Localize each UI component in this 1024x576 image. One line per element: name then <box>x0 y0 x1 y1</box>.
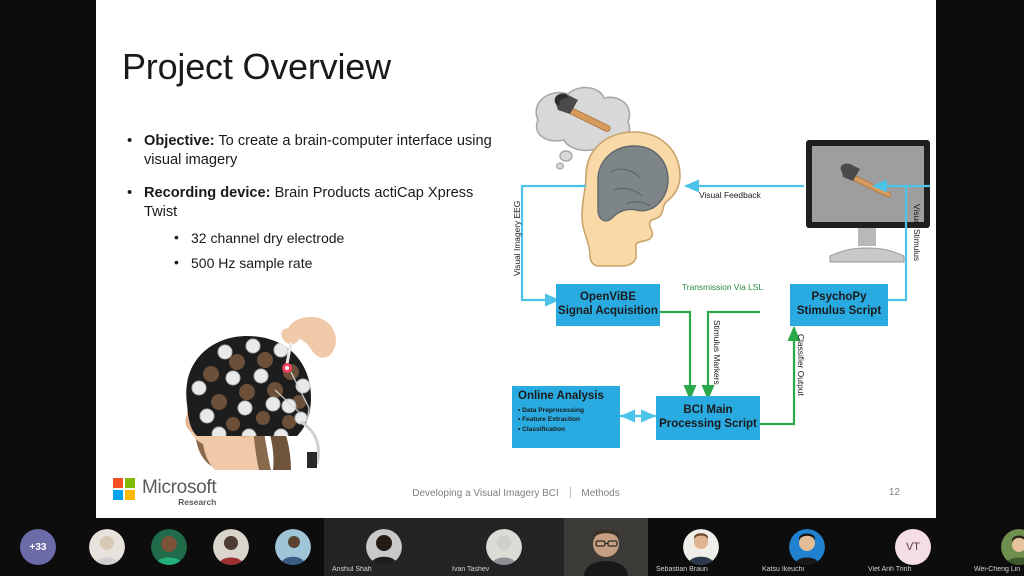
diagram-box-psychopy[interactable]: PsychoPy Stimulus Script <box>790 284 888 326</box>
online-analysis-item: Data Preprocessing <box>518 406 584 416</box>
participant-name: Wei-Cheng Lin <box>974 566 1020 573</box>
footer-divider <box>570 487 571 498</box>
box-bci-line2: Processing Script <box>659 418 757 432</box>
bullet-sub-list: 32 channel dry electrode 500 Hz sample r… <box>144 229 494 272</box>
online-analysis-item: Classification <box>518 425 584 435</box>
avatar <box>213 529 249 565</box>
participant-name: Viet Anh Trinh <box>868 566 911 573</box>
label-visual-feedback: Visual Feedback <box>699 190 761 200</box>
arrow-visual-imagery-eeg <box>522 186 586 300</box>
label-visual-imagery-eeg: Visual Imagery EEG <box>512 201 522 276</box>
bullet-objective-label: Objective: <box>144 133 215 149</box>
overflow-count-badge: +33 <box>20 529 56 565</box>
participant-tile[interactable]: Anshul Shah <box>324 518 444 576</box>
slide-page-number: 12 <box>889 487 900 498</box>
box-bci-line1: BCI Main <box>683 404 732 418</box>
participant-tile[interactable]: Ivan Tashev <box>444 518 564 576</box>
label-stimulus-markers: Stimulus Markers <box>712 320 722 385</box>
box-openvibe-line2: Signal Acquisition <box>558 305 658 319</box>
footer-deck-title: Developing a Visual Imagery BCI <box>412 488 559 499</box>
avatar <box>151 529 187 565</box>
page-title: Project Overview <box>122 46 391 88</box>
box-openvibe-line1: OpenViBE <box>580 291 636 305</box>
bullet-list: Objective: To create a brain-computer in… <box>124 132 494 285</box>
label-visual-stimulus: Visual Stimulus <box>912 204 922 261</box>
avatar <box>366 529 402 565</box>
participant-tile[interactable]: Katsu Ikeuchi <box>754 518 860 576</box>
arrow-transmission-lsl <box>656 312 690 398</box>
participant-tile[interactable]: Wei-Cheng Lin <box>966 518 1024 576</box>
bullet-sub-item: 32 channel dry electrode <box>174 229 494 247</box>
footer-section: Methods <box>581 488 619 499</box>
bullet-recording-label: Recording device: <box>144 185 271 201</box>
avatar <box>1001 529 1024 565</box>
participant-name: Katsu Ikeuchi <box>762 566 804 573</box>
overflow-tile[interactable]: +33 <box>0 518 76 576</box>
participant-tile[interactable] <box>138 518 200 576</box>
arrow-classifier-output <box>760 328 794 424</box>
diagram-box-openvibe[interactable]: OpenViBE Signal Acquisition <box>556 284 660 326</box>
participant-name: Anshul Shah <box>332 566 372 573</box>
bullet-recording-device: Recording device: Brain Products actiCap… <box>124 184 494 273</box>
avatar <box>683 529 719 565</box>
participant-strip[interactable]: +33 <box>0 518 1024 576</box>
eeg-cap-photo <box>141 312 371 472</box>
online-analysis-items: Data Preprocessing Feature Extraction Cl… <box>518 406 584 435</box>
participant-name: Sebastian Braun <box>656 566 708 573</box>
bullet-sub-item: 500 Hz sample rate <box>174 254 494 272</box>
participant-tile[interactable] <box>76 518 138 576</box>
head-profile-icon <box>582 132 680 266</box>
participant-video-tile[interactable] <box>564 518 648 576</box>
online-analysis-item: Feature Extraction <box>518 415 584 425</box>
label-transmission-lsl: Transmission Via LSL <box>682 282 763 292</box>
meeting-window: Project Overview Objective: To create a … <box>0 0 1024 576</box>
avatar-initials: VT <box>895 529 931 565</box>
footer-breadcrumb: Developing a Visual Imagery BCI Methods <box>96 487 936 499</box>
diagram-box-online-analysis[interactable]: Online Analysis Data Preprocessing Featu… <box>512 386 620 448</box>
avatar <box>89 529 125 565</box>
box-psychopy-line2: Stimulus Script <box>797 305 881 319</box>
system-diagram: OpenViBE Signal Acquisition PsychoPy Sti… <box>494 86 930 466</box>
box-psychopy-line1: PsychoPy <box>812 291 867 305</box>
online-analysis-title: Online Analysis <box>518 390 604 404</box>
brand-subname: Research <box>142 498 216 507</box>
avatar <box>789 529 825 565</box>
avatar <box>275 529 311 565</box>
bullet-objective: Objective: To create a brain-computer in… <box>124 132 494 171</box>
participant-name: Ivan Tashev <box>452 566 489 573</box>
participant-tile[interactable]: VT Viet Anh Trinh <box>860 518 966 576</box>
avatar <box>486 529 522 565</box>
live-camera-feed <box>564 518 648 576</box>
presentation-slide: Project Overview Objective: To create a … <box>96 0 936 519</box>
participant-tile[interactable]: Sebastian Braun <box>648 518 754 576</box>
participant-tile[interactable] <box>262 518 324 576</box>
participant-tile[interactable] <box>200 518 262 576</box>
label-classifier-output: Classifier Output <box>796 334 806 396</box>
diagram-box-bci-main[interactable]: BCI Main Processing Script <box>656 396 760 440</box>
